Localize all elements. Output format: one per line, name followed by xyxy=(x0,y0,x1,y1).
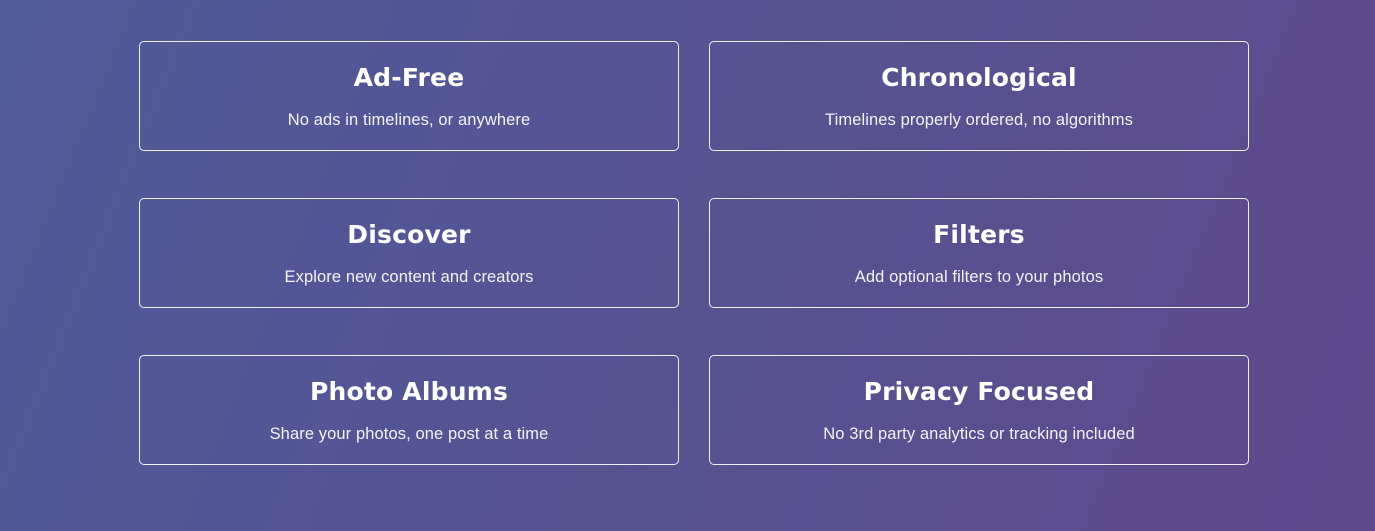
feature-card-description: Explore new content and creators xyxy=(284,269,533,286)
feature-card-discover[interactable]: Discover Explore new content and creator… xyxy=(139,198,679,308)
feature-card-description: Timelines properly ordered, no algorithm… xyxy=(825,112,1133,129)
feature-card-title: Photo Albums xyxy=(310,377,508,404)
feature-card-title: Privacy Focused xyxy=(864,377,1095,404)
feature-card-title: Ad-Free xyxy=(354,63,465,90)
feature-card-description: No ads in timelines, or anywhere xyxy=(288,112,531,129)
feature-card-photo-albums[interactable]: Photo Albums Share your photos, one post… xyxy=(139,355,679,465)
feature-card-filters[interactable]: Filters Add optional filters to your pho… xyxy=(709,198,1249,308)
feature-card-title: Chronological xyxy=(881,63,1077,90)
features-section: Ad-Free No ads in timelines, or anywhere… xyxy=(0,0,1375,531)
feature-card-ad-free[interactable]: Ad-Free No ads in timelines, or anywhere xyxy=(139,41,679,151)
feature-card-description: No 3rd party analytics or tracking inclu… xyxy=(823,426,1135,443)
feature-card-chronological[interactable]: Chronological Timelines properly ordered… xyxy=(709,41,1249,151)
feature-card-privacy-focused[interactable]: Privacy Focused No 3rd party analytics o… xyxy=(709,355,1249,465)
features-grid: Ad-Free No ads in timelines, or anywhere… xyxy=(139,41,1249,465)
feature-card-title: Filters xyxy=(933,220,1025,247)
feature-card-description: Share your photos, one post at a time xyxy=(270,426,549,443)
feature-card-description: Add optional filters to your photos xyxy=(855,269,1103,286)
feature-card-title: Discover xyxy=(347,220,470,247)
